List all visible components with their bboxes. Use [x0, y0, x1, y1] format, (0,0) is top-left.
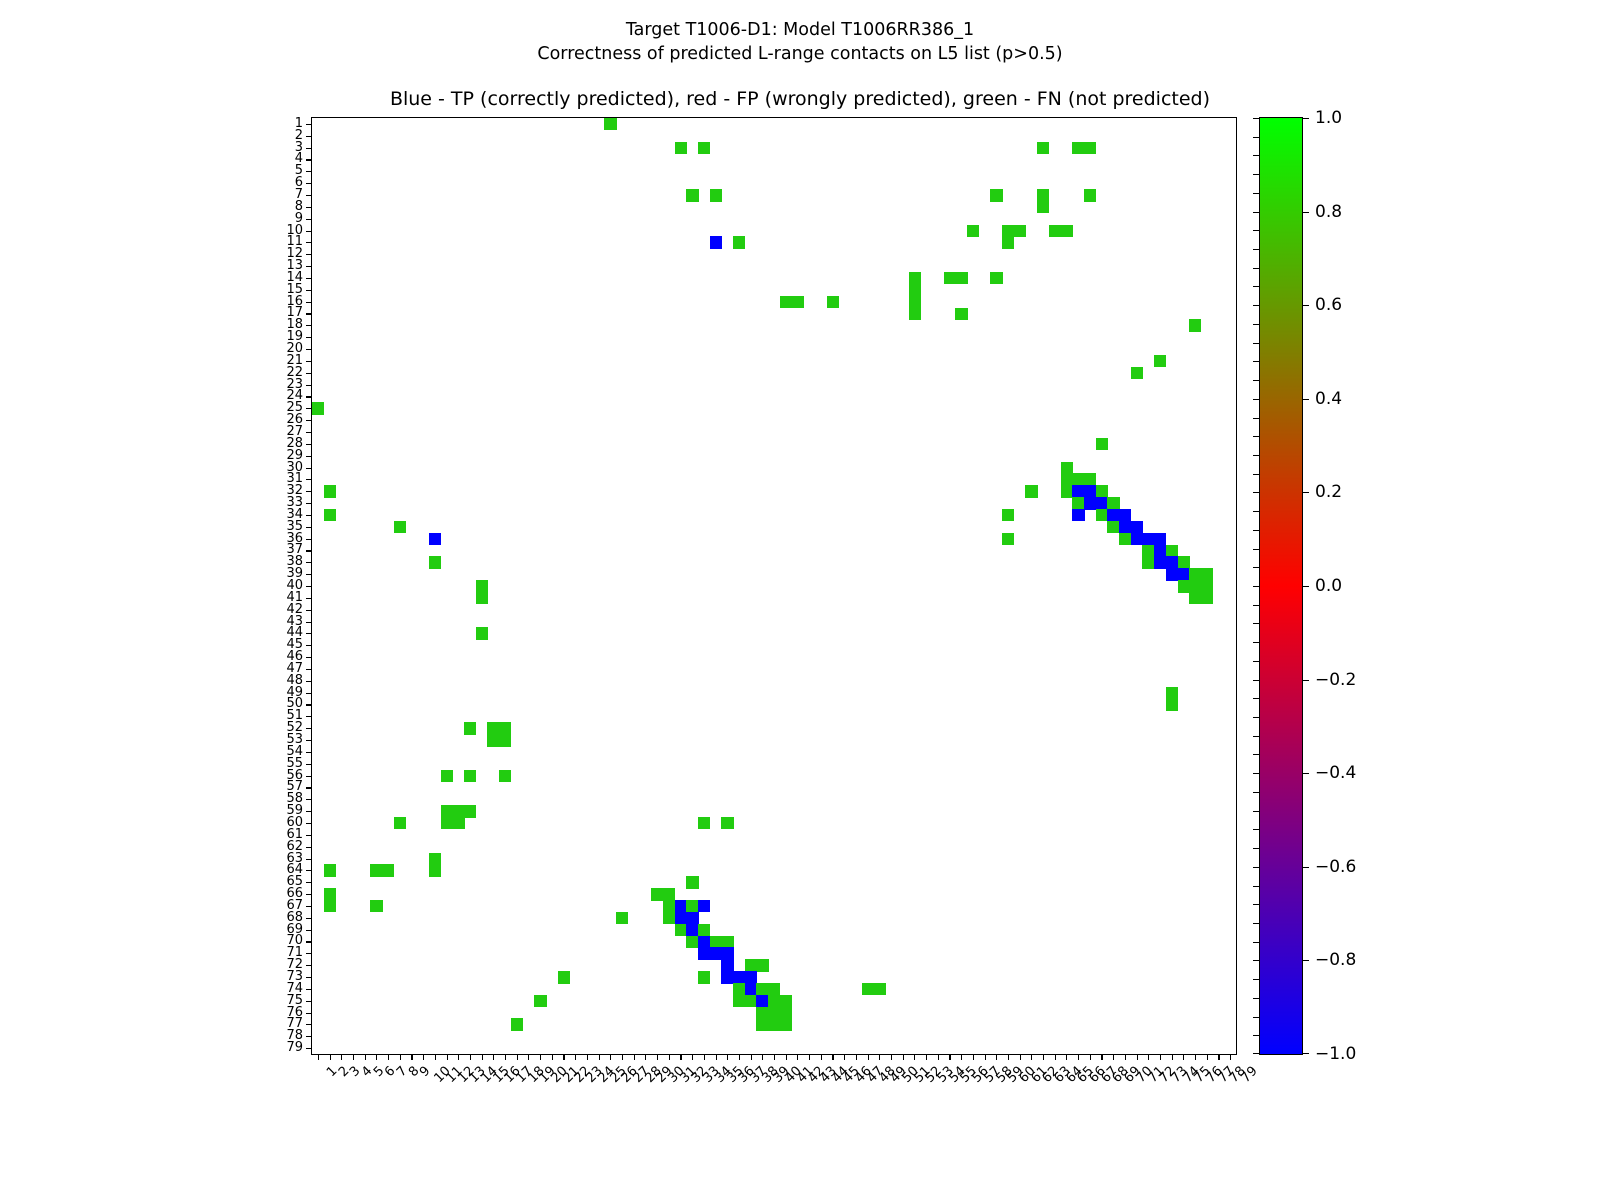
x-axis-tick: [376, 1054, 377, 1060]
colorbar-minor-tick: [1253, 1017, 1260, 1018]
x-axis-tick: [400, 1054, 401, 1060]
y-axis-tick: [306, 716, 312, 717]
contact-cell: [1189, 592, 1201, 604]
y-axis-tick: [306, 385, 312, 386]
y-axis-tick: [306, 207, 312, 208]
x-axis-tick: [727, 1054, 728, 1060]
y-axis-tick: [306, 1036, 312, 1037]
contact-cell: [967, 225, 979, 237]
colorbar-minor-tick: [1253, 549, 1260, 550]
x-axis-tick: [1183, 1054, 1184, 1060]
x-axis-tick: [868, 1054, 869, 1060]
colorbar-minor-tick: [1253, 923, 1260, 924]
contact-cell: [1096, 509, 1108, 521]
y-axis-tick: [306, 124, 312, 125]
y-axis-tick: [306, 136, 312, 137]
x-axis-tick: [1020, 1054, 1021, 1060]
contact-cell: [476, 627, 488, 639]
y-axis-tick: [306, 859, 312, 860]
colorbar-minor-tick: [1253, 212, 1260, 213]
y-axis-tick: [306, 195, 312, 196]
contact-cell: [1178, 568, 1190, 580]
y-axis-tick: [306, 906, 312, 907]
y-axis-tick: [306, 882, 312, 883]
contact-cell: [324, 509, 336, 521]
contact-cell: [909, 308, 921, 320]
colorbar-minor-tick: [1253, 361, 1260, 362]
x-axis-tick: [1137, 1054, 1138, 1060]
contact-cell: [663, 900, 675, 912]
title-line-1: Target T1006-D1: Model T1006RR386_1: [0, 18, 1600, 42]
contact-cell: [768, 1007, 780, 1019]
contact-cell: [710, 936, 722, 948]
contact-cell: [441, 770, 453, 782]
x-axis-tick: [1160, 1054, 1161, 1060]
contact-cell: [370, 900, 382, 912]
y-axis-tick: [306, 242, 312, 243]
colorbar-minor-tick: [1253, 773, 1260, 774]
x-axis-tick: [1148, 1054, 1149, 1060]
x-axis-tick: [903, 1054, 904, 1060]
y-axis-tick: [306, 1024, 312, 1025]
contact-cell: [1119, 533, 1131, 545]
contact-cell: [780, 995, 792, 1007]
contact-map-cells: [312, 118, 1236, 1054]
colorbar-minor-tick: [1253, 474, 1260, 475]
contact-cell: [873, 983, 885, 995]
contact-cell: [1154, 556, 1166, 568]
contact-map-figure: Target T1006-D1: Model T1006RR386_1 Corr…: [0, 0, 1600, 1200]
x-axis-tick: [1101, 1054, 1102, 1060]
x-axis-tick: [470, 1054, 471, 1060]
contact-cell: [1037, 201, 1049, 213]
colorbar-tick: [1302, 773, 1309, 774]
colorbar-label: 1.0: [1315, 110, 1342, 126]
x-axis-tick: [1090, 1054, 1091, 1060]
x-axis-tick: [856, 1054, 857, 1060]
contact-cell: [1072, 473, 1084, 485]
x-axis-tick: [739, 1054, 740, 1060]
colorbar-minor-tick: [1253, 530, 1260, 531]
contact-cell: [909, 284, 921, 296]
x-axis-tick: [938, 1054, 939, 1060]
contact-cell: [756, 983, 768, 995]
contact-cell: [1072, 485, 1084, 497]
contact-cell: [1061, 225, 1073, 237]
contact-cell: [955, 272, 967, 284]
y-axis-tick: [306, 645, 312, 646]
colorbar-tick: [1302, 680, 1309, 681]
contact-cell: [499, 722, 511, 734]
y-axis-tick: [306, 539, 312, 540]
contact-cell: [476, 592, 488, 604]
contact-cell: [1049, 225, 1061, 237]
contact-cell: [1072, 142, 1084, 154]
y-axis-tick: [306, 740, 312, 741]
contact-cell: [698, 900, 710, 912]
contact-cell: [721, 936, 733, 948]
y-axis-tick: [306, 953, 312, 954]
contact-cell: [756, 959, 768, 971]
y-axis-tick: [306, 468, 312, 469]
x-axis-tick: [365, 1054, 366, 1060]
x-axis-tick: [996, 1054, 997, 1060]
y-axis-tick: [306, 918, 312, 919]
colorbar-minor-tick: [1253, 960, 1260, 961]
x-axis-tick: [1043, 1054, 1044, 1060]
colorbar-minor-tick: [1253, 305, 1260, 306]
colorbar-minor-tick: [1253, 511, 1260, 512]
y-axis-tick: [306, 515, 312, 516]
contact-cell: [733, 983, 745, 995]
x-axis-tick: [1172, 1054, 1173, 1060]
y-axis-tick: [306, 989, 312, 990]
colorbar-label: 0.8: [1315, 204, 1342, 220]
colorbar-tick: [1302, 1053, 1309, 1054]
y-axis-tick: [306, 835, 312, 836]
contact-cell: [1189, 580, 1201, 592]
y-axis-tick: [306, 622, 312, 623]
x-axis-tick: [669, 1054, 670, 1060]
x-axis-tick: [552, 1054, 553, 1060]
colorbar-minor-tick: [1253, 118, 1260, 119]
x-axis-tick: [891, 1054, 892, 1060]
x-axis-tick: [751, 1054, 752, 1060]
contact-cell: [464, 770, 476, 782]
y-axis-tick: [306, 728, 312, 729]
colorbar-minor-tick: [1253, 942, 1260, 943]
colorbar-tick: [1302, 118, 1309, 119]
contact-map-plot-area[interactable]: 1122334455667788991010111112121313141415…: [311, 117, 1237, 1055]
x-axis-tick: [435, 1054, 436, 1060]
contact-cell: [441, 805, 453, 817]
colorbar-gradient: [1260, 118, 1302, 1054]
x-axis-tick: [704, 1054, 705, 1060]
y-axis-tick: [306, 823, 312, 824]
contact-cell: [499, 770, 511, 782]
colorbar-minor-tick: [1253, 1035, 1260, 1036]
x-axis-tick: [973, 1054, 974, 1060]
colorbar-minor-tick: [1253, 736, 1260, 737]
y-axis-tick: [306, 479, 312, 480]
contact-cell: [686, 876, 698, 888]
contact-cell: [663, 888, 675, 900]
contact-cell: [1096, 485, 1108, 497]
colorbar-minor-tick: [1253, 567, 1260, 568]
contact-cell: [1166, 545, 1178, 557]
x-axis-tick: [949, 1054, 950, 1060]
contact-cell: [686, 924, 698, 936]
contact-cell: [675, 924, 687, 936]
y-axis-tick: [306, 799, 312, 800]
contact-cell: [745, 959, 757, 971]
x-axis-tick: [634, 1054, 635, 1060]
colorbar-label: −0.6: [1315, 859, 1356, 875]
y-axis-tick: [306, 148, 312, 149]
y-axis-tick: [306, 669, 312, 670]
colorbar-minor-tick: [1253, 979, 1260, 980]
x-axis-tick: [961, 1054, 962, 1060]
contact-cell: [1166, 687, 1178, 699]
figure-title: Target T1006-D1: Model T1006RR386_1 Corr…: [0, 18, 1600, 66]
y-axis-tick: [306, 633, 312, 634]
contact-cell: [464, 805, 476, 817]
contact-cell: [686, 936, 698, 948]
y-axis-tick: [306, 965, 312, 966]
x-axis-tick: [786, 1054, 787, 1060]
x-axis-tick: [575, 1054, 576, 1060]
y-axis-tick: [306, 586, 312, 587]
contact-cell: [909, 272, 921, 284]
contact-cell: [1002, 509, 1014, 521]
y-axis-tick: [306, 373, 312, 374]
contact-cell: [394, 817, 406, 829]
y-axis-tick: [306, 776, 312, 777]
x-axis-tick: [832, 1054, 833, 1060]
y-axis-tick: [306, 562, 312, 563]
x-axis-tick: [1078, 1054, 1079, 1060]
x-axis-tick: [411, 1054, 412, 1060]
colorbar-label: 0.6: [1315, 297, 1342, 313]
contact-cell: [452, 805, 464, 817]
x-axis-tick: [388, 1054, 389, 1060]
x-axis-tick: [528, 1054, 529, 1060]
contact-cell: [1166, 556, 1178, 568]
colorbar-minor-tick: [1253, 455, 1260, 456]
y-axis-tick: [306, 787, 312, 788]
x-axis-tick: [540, 1054, 541, 1060]
contact-cell: [1107, 521, 1119, 533]
contact-cell: [745, 983, 757, 995]
x-axis-tick: [716, 1054, 717, 1060]
colorbar-label: −0.8: [1315, 952, 1356, 968]
colorbar-minor-tick: [1253, 605, 1260, 606]
colorbar-label: −0.2: [1315, 672, 1356, 688]
contact-cell: [476, 580, 488, 592]
x-axis-tick: [517, 1054, 518, 1060]
x-axis-tick: [1207, 1054, 1208, 1060]
x-axis-tick: [563, 1054, 564, 1060]
y-axis-tick: [306, 930, 312, 931]
colorbar-minor-tick: [1253, 904, 1260, 905]
contact-cell: [710, 236, 722, 248]
contact-cell: [1061, 485, 1073, 497]
colorbar-minor-tick: [1253, 998, 1260, 999]
contact-cell: [370, 864, 382, 876]
contact-cell: [616, 912, 628, 924]
contact-cell: [324, 485, 336, 497]
contact-cell: [721, 947, 733, 959]
x-axis-tick: [821, 1054, 822, 1060]
y-axis-tick: [306, 219, 312, 220]
x-axis-tick: [1218, 1054, 1219, 1060]
contact-cell: [1084, 473, 1096, 485]
y-axis-tick: [306, 302, 312, 303]
y-axis-tick: [306, 231, 312, 232]
contact-cell: [733, 995, 745, 1007]
contact-cell: [721, 817, 733, 829]
contact-cell: [675, 142, 687, 154]
colorbar: 1.00.80.60.40.20.0−0.2−0.4−0.6−0.8−1.0: [1259, 117, 1303, 1055]
y-axis-tick: [306, 361, 312, 362]
contact-cell: [1014, 225, 1026, 237]
contact-cell: [909, 296, 921, 308]
contact-cell: [675, 912, 687, 924]
y-axis-tick: [306, 1013, 312, 1014]
y-axis-tick: [306, 752, 312, 753]
x-axis-tick: [458, 1054, 459, 1060]
colorbar-minor-tick: [1253, 418, 1260, 419]
contact-cell: [1072, 509, 1084, 521]
contact-cell: [733, 971, 745, 983]
x-axis-tick: [1195, 1054, 1196, 1060]
contact-cell: [1189, 319, 1201, 331]
colorbar-label: −0.4: [1315, 765, 1356, 781]
x-axis-tick: [1008, 1054, 1009, 1060]
x-axis-tick: [680, 1054, 681, 1060]
contact-cell: [1107, 497, 1119, 509]
contact-cell: [1107, 509, 1119, 521]
y-axis-tick: [306, 977, 312, 978]
contact-cell: [827, 296, 839, 308]
contact-cell: [1002, 236, 1014, 248]
contact-cell: [1072, 497, 1084, 509]
contact-cell: [1166, 568, 1178, 580]
y-axis-tick: [306, 408, 312, 409]
colorbar-minor-tick: [1253, 680, 1260, 681]
x-axis-tick: [1113, 1054, 1114, 1060]
contact-cell: [698, 947, 710, 959]
y-axis-tick: [306, 420, 312, 421]
y-axis-tick: [306, 444, 312, 445]
contact-cell: [955, 308, 967, 320]
colorbar-tick: [1302, 399, 1309, 400]
contact-cell: [511, 1018, 523, 1030]
contact-cell: [441, 817, 453, 829]
colorbar-minor-tick: [1253, 399, 1260, 400]
y-axis-tick: [306, 313, 312, 314]
contact-cell: [710, 947, 722, 959]
contact-cell: [686, 900, 698, 912]
contact-cell: [1002, 225, 1014, 237]
contact-cell: [944, 272, 956, 284]
contact-cell: [1154, 545, 1166, 557]
contact-cell: [710, 189, 722, 201]
contact-cell: [1096, 497, 1108, 509]
colorbar-minor-tick: [1253, 642, 1260, 643]
colorbar-minor-tick: [1253, 829, 1260, 830]
contact-cell: [429, 533, 441, 545]
colorbar-minor-tick: [1253, 886, 1260, 887]
contact-cell: [663, 912, 675, 924]
contact-cell: [698, 971, 710, 983]
colorbar-minor-tick: [1253, 623, 1260, 624]
y-axis-label: 79: [286, 1043, 303, 1053]
contact-cell: [721, 959, 733, 971]
contact-cell: [1142, 545, 1154, 557]
x-axis-tick: [318, 1054, 319, 1060]
x-axis-tick: [493, 1054, 494, 1060]
x-axis-tick: [879, 1054, 880, 1060]
contact-cell: [698, 817, 710, 829]
x-axis-tick: [330, 1054, 331, 1060]
y-axis-tick: [306, 704, 312, 705]
x-axis-tick: [353, 1054, 354, 1060]
contact-cell: [721, 971, 733, 983]
contact-cell: [1131, 533, 1143, 545]
contact-cell: [862, 983, 874, 995]
contact-cell: [452, 817, 464, 829]
contact-cell: [1131, 521, 1143, 533]
x-axis-tick: [1230, 1054, 1231, 1060]
y-axis-tick: [306, 610, 312, 611]
colorbar-minor-tick: [1253, 268, 1260, 269]
contact-cell: [780, 1018, 792, 1030]
x-axis-tick: [610, 1054, 611, 1060]
y-axis-tick: [306, 266, 312, 267]
colorbar-minor-tick: [1253, 811, 1260, 812]
contact-cell: [745, 995, 757, 1007]
y-axis-tick: [306, 870, 312, 871]
contact-cell: [1084, 485, 1096, 497]
x-axis-tick: [926, 1054, 927, 1060]
contact-cell: [792, 296, 804, 308]
contact-cell: [745, 971, 757, 983]
contact-cell: [324, 888, 336, 900]
colorbar-minor-tick: [1253, 155, 1260, 156]
x-axis-tick: [1066, 1054, 1067, 1060]
x-axis-tick: [599, 1054, 600, 1060]
colorbar-minor-tick: [1253, 286, 1260, 287]
contact-cell: [768, 995, 780, 1007]
contact-cell: [1096, 438, 1108, 450]
contact-cell: [675, 900, 687, 912]
contact-cell: [768, 1018, 780, 1030]
contact-cell: [1037, 189, 1049, 201]
colorbar-minor-tick: [1253, 137, 1260, 138]
contact-cell: [499, 734, 511, 746]
contact-cell: [686, 189, 698, 201]
contact-cell: [733, 236, 745, 248]
colorbar-minor-tick: [1253, 792, 1260, 793]
contact-cell: [1119, 521, 1131, 533]
x-axis-tick: [809, 1054, 810, 1060]
contact-cell: [604, 118, 616, 130]
legend-subtitle: Blue - TP (correctly predicted), red - F…: [0, 88, 1600, 110]
y-axis-tick: [306, 432, 312, 433]
contact-cell: [686, 912, 698, 924]
contact-cell: [1142, 556, 1154, 568]
contact-cell: [1201, 592, 1213, 604]
contact-cell: [429, 864, 441, 876]
colorbar-label: 0.0: [1315, 578, 1342, 594]
x-axis-tick: [914, 1054, 915, 1060]
x-axis-tick: [645, 1054, 646, 1060]
contact-cell: [1201, 580, 1213, 592]
colorbar-minor-tick: [1253, 586, 1260, 587]
contact-cell: [1061, 462, 1073, 474]
contact-cell: [394, 521, 406, 533]
contact-cell: [324, 864, 336, 876]
x-axis-tick: [423, 1054, 424, 1060]
x-axis-tick: [774, 1054, 775, 1060]
contact-cell: [990, 189, 1002, 201]
contact-cell: [1201, 568, 1213, 580]
y-axis-tick: [306, 278, 312, 279]
x-axis-tick: [1031, 1054, 1032, 1060]
colorbar-tick: [1302, 212, 1309, 213]
contact-cell: [1189, 568, 1201, 580]
